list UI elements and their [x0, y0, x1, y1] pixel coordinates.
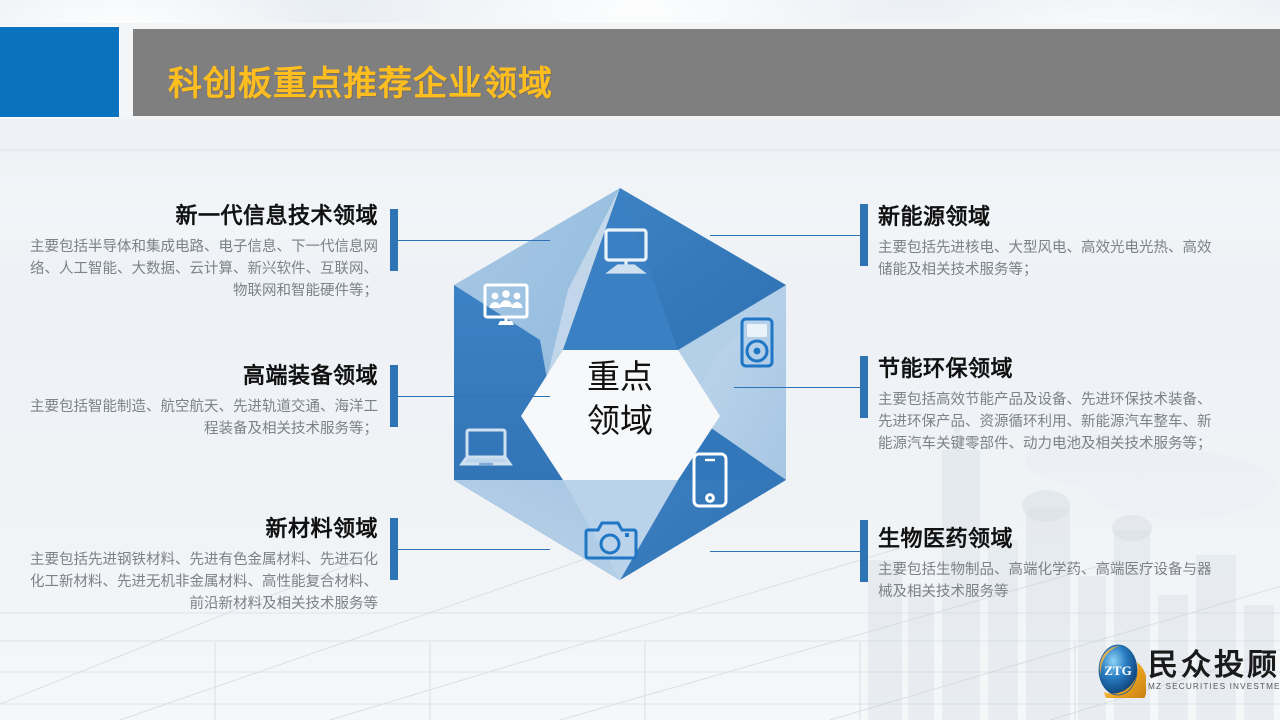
slide-root: 科创板重点推荐企业领域 [0, 0, 1280, 720]
field-block-new-materials: 新材料领域 主要包括先进钢铁材料、先进有色金属材料、先进石化化工新材料、先进无机… [18, 511, 378, 615]
field-title: 高端装备领域 [30, 358, 378, 390]
field-body: 主要包括高效节能产品及设备、先进环保技术装备、先进环保产品、资源循环利用、新能源… [878, 389, 1222, 455]
connector-left-1 [390, 209, 550, 271]
field-body: 主要包括半导体和集成电路、电子信息、下一代信息网络、人工智能、大数据、云计算、新… [30, 236, 378, 302]
logo-name-cn: 民众投顾 [1148, 640, 1280, 684]
logo-name-en: MZ SECURITIES INVESTMENT CONSULTING [1148, 682, 1280, 691]
field-block-energy-saving-environmental: 节能环保领域 主要包括高效节能产品及设备、先进环保技术装备、先进环保产品、资源循… [878, 351, 1222, 455]
field-title: 节能环保领域 [878, 351, 1222, 383]
ztg-globe-icon: ZTG [1090, 642, 1146, 698]
company-logo: ZTG 民众投顾 MZ SECURITIES INVESTMENT CONSUL… [1090, 638, 1275, 708]
header-accent-square [0, 27, 119, 117]
field-block-new-energy: 新能源领域 主要包括先进核电、大型风电、高效光电光热、高效储能及相关技术服务等； [878, 199, 1218, 281]
field-body: 主要包括智能制造、航空航天、先进轨道交通、海洋工程装备及相关技术服务等； [30, 396, 378, 440]
field-title: 新能源领域 [878, 199, 1218, 231]
field-title: 新材料领域 [18, 511, 378, 543]
field-title: 生物医药领域 [878, 521, 1222, 553]
field-body: 主要包括生物制品、高端化学药、高端医疗设备与器械及相关技术服务等 [878, 559, 1222, 603]
field-body: 主要包括先进钢铁材料、先进有色金属材料、先进石化化工新材料、先进无机非金属材料、… [18, 549, 378, 615]
page-title: 科创板重点推荐企业领域 [168, 56, 553, 105]
connector-left-2 [390, 365, 550, 427]
field-title: 新一代信息技术领域 [30, 198, 378, 230]
field-body: 主要包括先进核电、大型风电、高效光电光热、高效储能及相关技术服务等； [878, 237, 1218, 281]
field-block-biomedicine: 生物医药领域 主要包括生物制品、高端化学药、高端医疗设备与器械及相关技术服务等 [878, 521, 1222, 603]
field-block-information-technology: 新一代信息技术领域 主要包括半导体和集成电路、电子信息、下一代信息网络、人工智能… [30, 198, 378, 302]
field-block-high-end-equipment: 高端装备领域 主要包括智能制造、航空航天、先进轨道交通、海洋工程装备及相关技术服… [30, 358, 378, 440]
connector-left-3 [390, 518, 550, 580]
logo-mark-text: ZTG [1104, 663, 1131, 678]
